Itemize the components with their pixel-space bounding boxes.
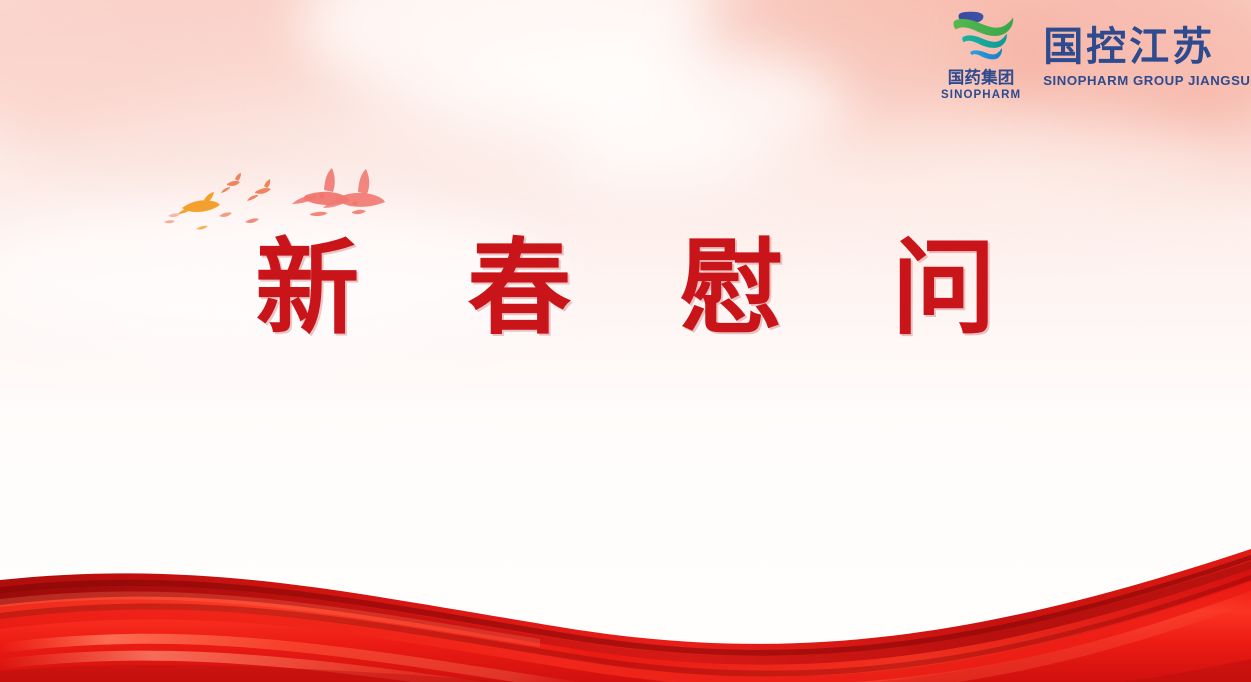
red-silk-wave-ribbon <box>0 547 1251 682</box>
watercolor-cloud <box>300 0 720 120</box>
watercolor-cloud <box>430 40 850 180</box>
jiangsu-en-label: SINOPHARM GROUP JIANGSU <box>1043 74 1250 87</box>
poster-canvas: 国药集团 SINOPHARM 国控江苏 SINOPHARM GROUP JIAN… <box>0 0 1251 682</box>
sinopharm-brand-block: 国药集团 SINOPHARM <box>941 9 1021 102</box>
sinopharm-cn-label: 国药集团 <box>948 70 1015 87</box>
brand-logo-lockup: 国药集团 SINOPHARM 国控江苏 SINOPHARM GROUP JIAN… <box>941 4 1247 106</box>
page-title: 新 春 慰 问 <box>0 232 1251 344</box>
watercolor-cloud <box>0 0 400 160</box>
jiangsu-cn-label: 国控江苏 <box>1043 27 1215 67</box>
sinopharm-ribbon-logo-icon <box>941 11 1021 67</box>
sinopharm-en-label: SINOPHARM <box>941 90 1021 102</box>
watercolor-cloud <box>760 110 1220 230</box>
jiangsu-brand-block: 国控江苏 SINOPHARM GROUP JIANGSU <box>1043 23 1250 87</box>
